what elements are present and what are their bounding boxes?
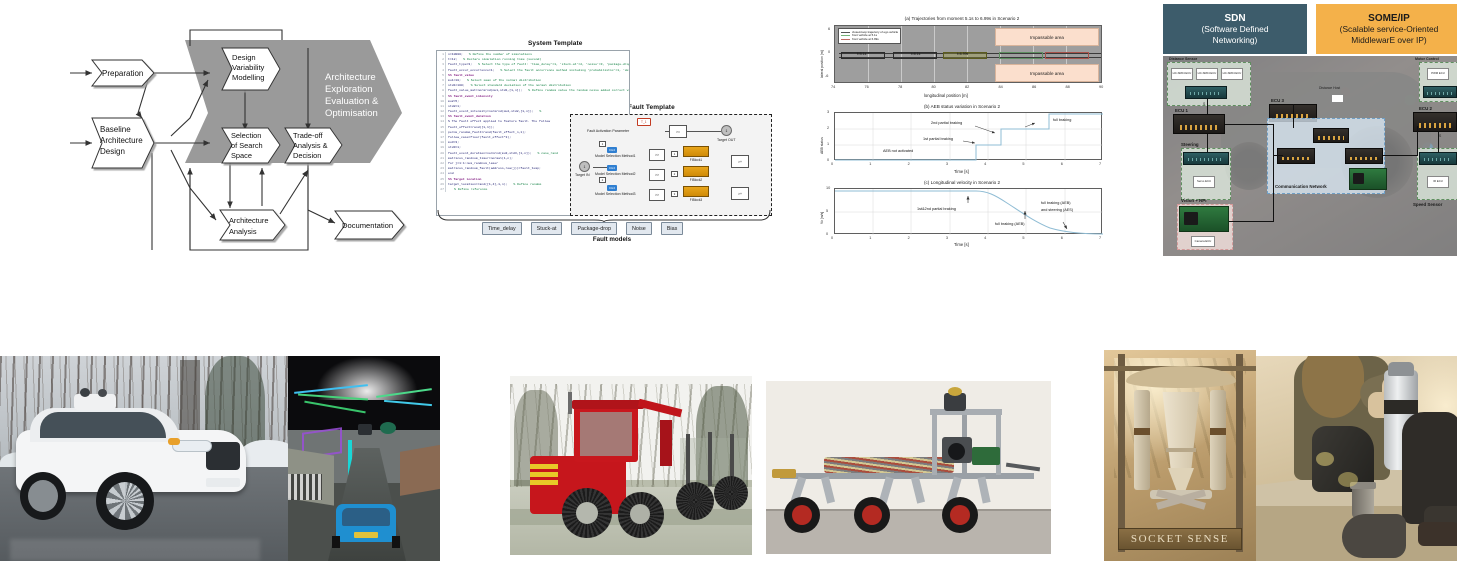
speed-switch-board — [1419, 152, 1457, 165]
flow-node-analysis-line-1: Analysis — [229, 227, 257, 236]
ecu-2-label: ECU 2 — [1419, 106, 1432, 111]
band-label-line-1: Exploration — [325, 84, 373, 95]
target-in-port: 1 — [579, 161, 590, 172]
process-flow-diagram: Architecture Exploration Evaluation & Op… — [30, 18, 430, 268]
target-out-port: 1 — [721, 125, 732, 136]
sum-block-right: >+ — [731, 155, 749, 168]
chart-subplot-a: (a) Trajectories from moment 5.1s to 6.9… — [806, 16, 1118, 104]
axis-tick: 3 — [827, 110, 829, 114]
switch-board-distance — [1185, 86, 1227, 99]
chart-subplot-b: (b) AEB status variation in Scenario 2 A… — [806, 104, 1118, 180]
system-fault-template-panel: System Template Fault Template 1n=10000;… — [432, 34, 780, 256]
flow-node-tradeoff-line-0: Trade-off — [293, 131, 324, 140]
axis-tick: 80 — [932, 85, 936, 89]
subplot-a-ytick-2: 6 — [828, 27, 830, 31]
legend-swatch-icon-0 — [841, 32, 850, 33]
photo-prosthetic-user — [1256, 356, 1457, 561]
axis-tick: 6 — [1061, 236, 1063, 240]
impassable-area-upper: Impassable area — [995, 28, 1099, 46]
figure-collage: Architecture Exploration Evaluation & Op… — [0, 0, 1457, 561]
channel-badge-3: CH2 — [607, 185, 617, 191]
axis-tick: 1 — [869, 162, 871, 166]
subplot-b-xlabel: Time [s] — [954, 169, 969, 174]
band-label-line-2: Evaluation & — [325, 96, 379, 107]
flow-node-selection-line-2: Space — [231, 151, 252, 160]
someip-title: SOME/IP — [1368, 13, 1410, 24]
camera-ecu-box: Camera ECU — [1191, 236, 1215, 247]
subplot-b-ylabel: AEB status — [820, 137, 824, 154]
code-line-comment: % Define reference — [448, 187, 487, 192]
group-distance-sensor-label: Distance Sensor — [1169, 57, 1197, 61]
fault-model-chip[interactable]: Package-drop — [571, 222, 617, 235]
fault-model-chip[interactable]: Stuck-at — [531, 222, 563, 235]
axis-tick: 7 — [1099, 162, 1101, 166]
chart-subplot-c: (c) Longitudinal velocity in Scenario 2 … — [806, 180, 1118, 254]
annot-t699: t=6.99s — [957, 52, 968, 56]
fault-model-chip[interactable]: Bias — [661, 222, 684, 235]
fault-models-chip-row: Time_delayStuck-atPackage-dropNoiseBias — [482, 222, 742, 235]
fault-activation-value: T_1 — [637, 118, 651, 126]
axis-tick: 2 — [908, 162, 910, 166]
switch-1: >> — [649, 149, 665, 161]
axis-tick: 0 — [831, 236, 833, 240]
switch-board-core-1 — [1313, 128, 1349, 143]
axis-tick: 3 — [946, 162, 948, 166]
fi-block-3 — [683, 186, 709, 197]
legend-label-2: front vehicle at 6.99s — [852, 38, 879, 42]
annot-full-braking-steering-line-1: and steering (AES) — [1041, 208, 1073, 212]
ir-ecu-box: IR ECU — [1427, 176, 1449, 188]
axis-tick: 7 — [1099, 236, 1101, 240]
axis-tick: 90 — [1099, 85, 1103, 89]
code-line-comment: % — [533, 109, 541, 114]
code-line-comment: % case_rand — [532, 151, 558, 156]
fi-block-1-label: FIBlock1 — [683, 158, 709, 162]
input-port-1: 1 — [599, 141, 606, 147]
steering-switch-board — [1183, 152, 1229, 165]
switch-2: >> — [649, 169, 665, 181]
axis-tick: 86 — [1032, 85, 1036, 89]
sdn-title: SDN — [1224, 13, 1245, 24]
model-selection-method-3-label: Model Selection Method3 — [595, 192, 636, 196]
system-template-title: System Template — [528, 40, 582, 47]
axis-tick: 84 — [999, 85, 1003, 89]
flow-svg: Architecture Exploration Evaluation & Op… — [30, 18, 430, 268]
motor-switch-board — [1423, 86, 1457, 98]
subplot-c-axes: 1st&2nd partial braking full braking (AE… — [834, 188, 1102, 234]
mux-2: 2 — [671, 171, 678, 177]
photo-rover-robot — [766, 381, 1051, 554]
flow-node-selection-line-1: of Search — [231, 141, 263, 150]
ecu-1-board — [1173, 114, 1225, 134]
flow-node-preparation-label: Preparation — [102, 69, 143, 78]
code-line-comment: % Select the fault occurrence method inc… — [494, 68, 630, 73]
impassable-area-lower: Impassable area — [995, 64, 1099, 82]
annot-t51: t=5.1s — [857, 52, 866, 56]
channel-badge-2: CH2 — [607, 165, 617, 171]
someip-subtitle-line-0: (Scalable service-Oriented — [1340, 24, 1439, 35]
ecu-3-label: ECU 3 — [1271, 98, 1284, 103]
photo-simulation-view — [288, 356, 440, 561]
group-steering-label: Steering — [1181, 142, 1199, 147]
axis-tick: 82 — [965, 85, 969, 89]
fi-block-2-label: FIBlock2 — [683, 178, 709, 182]
flow-node-selection-line-0: Selection — [231, 131, 261, 140]
sdn-subtitle-line-0: (Software Defined — [1201, 24, 1268, 35]
switch-board-core-3 — [1345, 148, 1383, 164]
annot-full-braking-steering-line-0: full braking (AEB) — [1041, 201, 1071, 205]
subplot-c-xlabel: Time [s] — [954, 242, 969, 247]
subplot-a-xlabel: longitudinal position [m] — [924, 93, 968, 98]
axis-tick: 88 — [1066, 85, 1070, 89]
code-line-comment: % Define random value the random noise a… — [522, 88, 630, 93]
ecu-1-label: ECU 1 — [1175, 108, 1188, 113]
input-port-2: 2 — [599, 177, 606, 183]
annot-full-braking-aeb-c: full braking (AEB) — [995, 222, 1025, 226]
annot-t61: t=6.1s — [911, 52, 920, 56]
switch-label-2: S — [1439, 134, 1441, 138]
subplot-c-plot — [835, 189, 1103, 235]
scenario-charts-panel: (a) Trajectories from moment 5.1s to 6.9… — [806, 16, 1118, 254]
axis-tick: 10 — [826, 186, 830, 190]
code-line-text: matrices_randnum_fault(address,row(j))=f… — [446, 166, 541, 171]
mux-3: 3 — [671, 191, 678, 197]
someip-header: SOME/IP (Scalable service-Oriented Middl… — [1316, 4, 1457, 54]
flow-node-tradeoff-line-2: Decision — [293, 151, 321, 160]
brace — [436, 210, 772, 222]
group-speed-sensor-label: Speed Sensor — [1413, 202, 1442, 207]
axis-tick: 1 — [827, 142, 829, 146]
legend-swatch-icon-1 — [841, 35, 850, 36]
axis-tick: 74 — [831, 85, 835, 89]
axis-tick: 1 — [869, 236, 871, 240]
annot-partial-braking-c: 1st&2nd partial braking — [917, 207, 956, 211]
fault-model-chip[interactable]: Time_delay — [482, 222, 522, 235]
axis-tick: 4 — [984, 162, 986, 166]
sdn-someip-panel: SDN (Software Defined Networking) SOME/I… — [1163, 0, 1457, 256]
rpi-board-core — [1349, 168, 1387, 190]
fault-model-chip[interactable]: Noise — [626, 222, 652, 235]
flow-node-baseline-line-1: Architecture — [100, 136, 143, 145]
axis-tick: 78 — [898, 85, 902, 89]
photo-research-vehicle — [0, 356, 288, 561]
subplot-a-axes: Impassable area Impassable area t=5.1s t… — [834, 25, 1102, 83]
code-line-comment: % Define random — [507, 182, 541, 187]
ecu-2-board — [1413, 112, 1457, 132]
fault-template-title: Fault Template — [628, 104, 675, 111]
distance-host-box — [1331, 94, 1344, 103]
hc-sr04-ecu-1: HC-SR04 ECU — [1171, 68, 1193, 80]
group-comm-network-label: Communication Network — [1275, 184, 1327, 189]
fi-block-2 — [683, 166, 709, 177]
legend-swatch-icon-2 — [841, 39, 850, 40]
legend-item-2: front vehicle at 6.99s — [841, 38, 898, 42]
flow-node-dvm-line-0: Design — [232, 53, 256, 62]
code-line-number: 27 — [437, 187, 446, 192]
flow-node-baseline-line-0: Baseline — [100, 125, 131, 134]
axis-tick: 5 — [1022, 162, 1024, 166]
photo-socket-sense-rig: SOCKET SENSE — [1104, 350, 1256, 561]
rpi-vision-board — [1179, 206, 1229, 232]
channel-badge-1: CH2 — [607, 147, 617, 153]
mux-1: 1 — [671, 151, 678, 157]
model-selection-method-2-label: Model Selection Method2 — [595, 172, 636, 176]
axis-tick: 0 — [826, 232, 828, 236]
subplot-a-ytick-1: 0 — [828, 50, 830, 54]
axis-tick: 2 — [908, 236, 910, 240]
subplot-a-ylabel: lateral position [m] — [820, 50, 824, 78]
hc-sr04-ecu-3: HC-SR04 ECU — [1221, 68, 1243, 80]
flow-node-documentation-label: Documentation — [342, 221, 393, 230]
group-motor-control-label: Motor Control — [1415, 57, 1439, 61]
fault-models-caption: Fault models — [482, 236, 742, 243]
axis-tick: 6 — [1061, 162, 1063, 166]
distance-host-label: Distance Host — [1319, 86, 1340, 90]
sdn-header: SDN (Software Defined Networking) — [1163, 4, 1307, 54]
fault-activation-parameter-label: Fault Activation Parameter — [587, 129, 629, 133]
axis-tick: 2 — [827, 126, 829, 130]
switch-label-1: S — [1203, 102, 1205, 106]
subplot-a-title: (a) Trajectories from moment 5.1s to 6.9… — [806, 16, 1118, 21]
band-label-line-3: Optimisation — [325, 108, 378, 119]
subplot-c-ylabel: Vx [m/s] — [820, 212, 824, 224]
target-out-label: Target OUT — [717, 138, 736, 142]
axis-tick: 0 — [831, 162, 833, 166]
band-label-line-0: Architecture — [325, 72, 376, 83]
axis-tick: 5 — [1022, 236, 1024, 240]
subplot-a-ytick-0: -6 — [825, 74, 828, 78]
target-in-label: Target IN — [575, 173, 590, 177]
axis-tick: 76 — [865, 85, 869, 89]
logic-gate-1: >= — [669, 125, 687, 138]
model-selection-method-1-label: Model Selection Method1 — [595, 154, 636, 158]
subplot-c-title: (c) Longitudinal velocity in Scenario 2 — [806, 180, 1118, 185]
sdn-subtitle-line-1: Networking) — [1213, 35, 1258, 46]
servo-ecu-box: Servo ECU — [1193, 176, 1215, 188]
flow-node-tradeoff-line-1: Analysis & — [293, 141, 328, 150]
flow-node-analysis-line-0: Architecture — [229, 216, 268, 225]
switch-3: >> — [649, 189, 665, 201]
socket-sense-nameplate-text: SOCKET SENSE — [1131, 533, 1229, 545]
subplot-b-axes: AEB not activated 1st partial braking 2n… — [834, 112, 1102, 160]
someip-subtitle-line-1: MiddlewarE over IP) — [1351, 35, 1426, 46]
subplot-a-legend: closed-loop trajectory of ego vehicle fr… — [838, 28, 901, 44]
subplot-b-title: (b) AEB status variation in Scenario 2 — [806, 104, 1118, 109]
axis-tick: 5 — [826, 209, 828, 213]
axis-tick: 4 — [984, 236, 986, 240]
photo-forestry-forwarder — [510, 376, 752, 555]
fi-block-1 — [683, 146, 709, 157]
flow-node-dvm-line-2: Modelling — [232, 73, 265, 82]
axis-tick: 0 — [827, 158, 829, 162]
pwm-ecu-box: PWM ECU — [1427, 68, 1449, 80]
subplot-b-arrows — [835, 113, 1103, 161]
rc-car-testbed-photo: Distance Sensor HC-SR04 ECU HC-SR04 ECU … — [1163, 56, 1457, 256]
group-vision-label: Vision + RPI — [1181, 198, 1206, 203]
fi-block-3-label: FIBlock3 — [683, 198, 709, 202]
sum-block-right-2: >+ — [731, 187, 749, 200]
hc-sr04-ecu-2: HC-SR04 ECU — [1196, 68, 1218, 80]
flow-node-dvm-line-1: Variability — [232, 63, 265, 72]
axis-tick: 3 — [946, 236, 948, 240]
flow-node-baseline-line-2: Design — [100, 147, 125, 156]
fault-template-region: T_1 Fault Activation Parameter >= 1 Targ… — [570, 114, 772, 216]
